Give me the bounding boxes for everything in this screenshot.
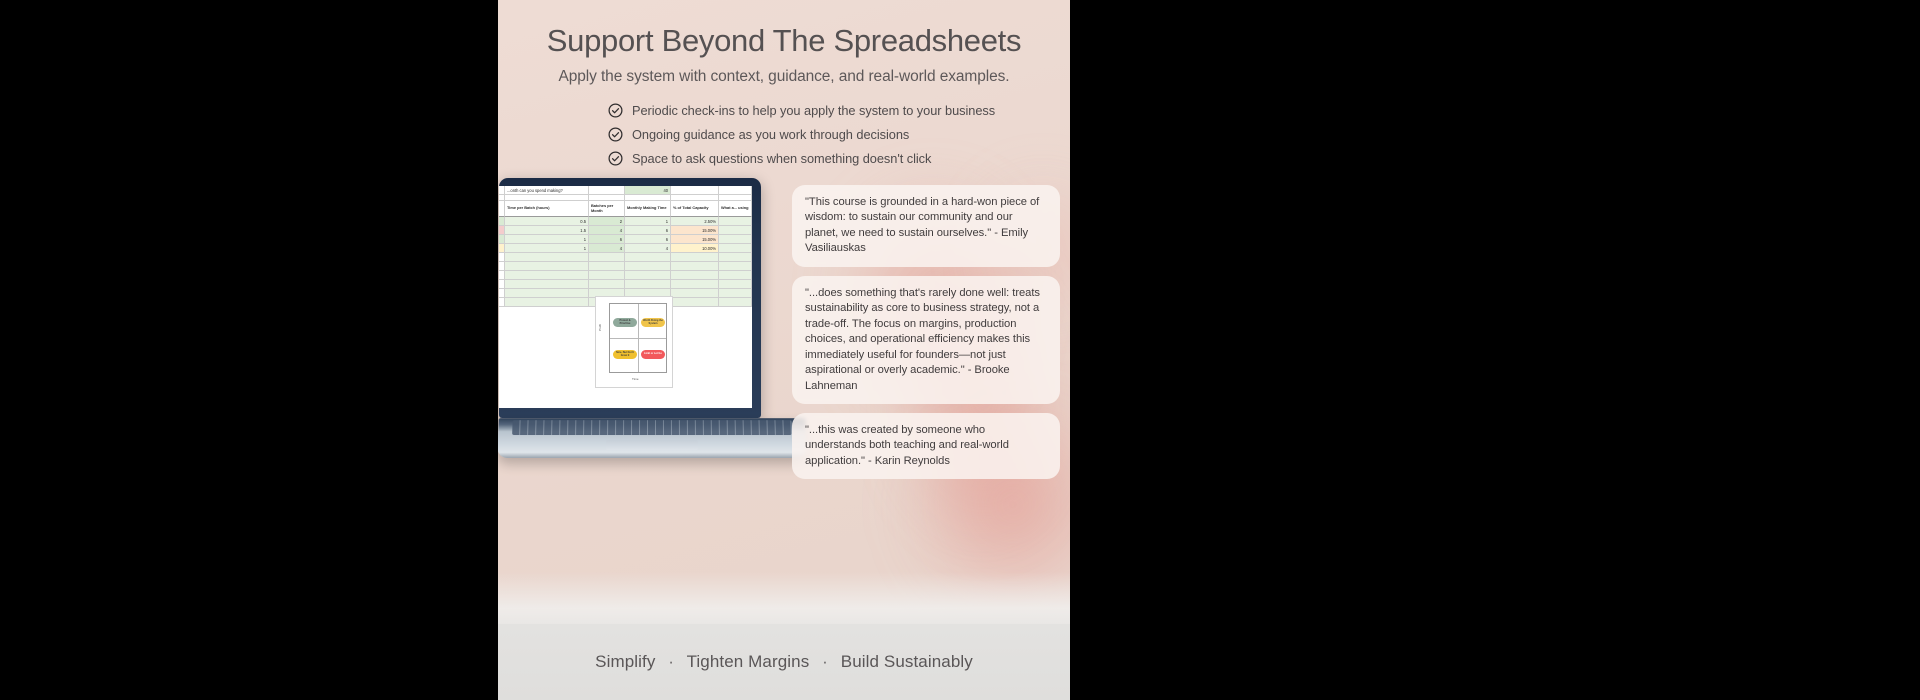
spacer-cell	[719, 253, 752, 262]
table-row	[499, 262, 752, 271]
spacer-cell	[589, 271, 625, 280]
circle-check-icon	[608, 127, 623, 142]
spacer-cell	[671, 186, 719, 195]
cell-batches: 4	[589, 244, 625, 253]
spacer-cell	[671, 262, 719, 271]
page-subtitle: Apply the system with context, guidance,…	[498, 68, 1070, 86]
laptop-lid: ...onth can you spend making? 40	[499, 178, 761, 418]
footer-item-build-sustainably: Build Sustainably	[841, 652, 973, 671]
list-item: Periodic check-ins to help you apply the…	[608, 98, 1028, 122]
spacer-cell	[719, 186, 752, 195]
spacer-cell	[625, 262, 671, 271]
spacer-cell	[719, 262, 752, 271]
spacer-cell	[671, 298, 719, 307]
cell-making-time: 4	[625, 244, 671, 253]
column-header: What a... using	[719, 201, 752, 217]
footer-separator: ·	[822, 652, 828, 671]
spacer-cell	[625, 271, 671, 280]
laptop-screen: ...onth can you spend making? 40	[499, 186, 752, 408]
table-row: 0.5 2 1 2.50%	[499, 217, 752, 226]
list-item-label: Ongoing guidance as you work through dec…	[632, 127, 909, 142]
cell-notes	[719, 244, 752, 253]
screenshot-stage: Support Beyond The Spreadsheets Apply th…	[0, 0, 1920, 700]
cell-capacity-pct: 10.00%	[671, 244, 719, 253]
spacer-cell	[671, 253, 719, 262]
footer-item-tighten-margins: Tighten Margins	[687, 652, 810, 671]
spacer-cell	[589, 280, 625, 289]
list-item: Space to ask questions when something do…	[608, 146, 1028, 170]
table-row	[499, 280, 752, 289]
column-header: Batches per Month	[589, 201, 625, 217]
spacer-cell	[719, 280, 752, 289]
laptop-mockup: ...onth can you spend making? 40	[498, 178, 818, 498]
list-item-label: Periodic check-ins to help you apply the…	[632, 103, 995, 118]
spacer-cell	[589, 253, 625, 262]
spacer-cell	[589, 262, 625, 271]
spacer-cell	[505, 298, 589, 307]
table-row: 1 6 6 15.00%	[499, 235, 752, 244]
spacer-cell	[719, 298, 752, 307]
cell-time-per-batch: 1.5	[505, 226, 589, 235]
cell-notes	[719, 217, 752, 226]
cell-capacity-pct: 15.00%	[671, 235, 719, 244]
column-header: Monthly Making Time	[625, 201, 671, 217]
table-header-row: Time per Batch (hours) Batches per Month…	[499, 201, 752, 217]
footer-fade	[498, 572, 1070, 624]
cell-batches: 6	[589, 235, 625, 244]
spacer-cell	[505, 289, 589, 298]
testimonial-card: "...this was created by someone who unde…	[792, 413, 1060, 479]
cell-making-time: 6	[625, 226, 671, 235]
cell-capacity-pct: 15.00%	[671, 226, 719, 235]
list-item: Ongoing guidance as you work through dec…	[608, 122, 1028, 146]
spacer-cell	[671, 271, 719, 280]
cell-time-per-batch: 1	[505, 235, 589, 244]
cell-capacity-pct: 2.50%	[671, 217, 719, 226]
testimonial-card: "...does something that's rarely done we…	[792, 276, 1060, 404]
chart-y-axis-label: Profit	[598, 324, 602, 331]
cell-making-time: 1	[625, 217, 671, 226]
circle-check-icon	[608, 151, 623, 166]
spacer-cell	[671, 289, 719, 298]
quadrant-label-bottom-right: Limit or Let Go	[641, 350, 665, 359]
spacer-cell	[719, 289, 752, 298]
spacer-cell	[719, 271, 752, 280]
testimonial-card: "This course is grounded in a hard-won p…	[792, 185, 1060, 267]
testimonial-list: "This course is grounded in a hard-won p…	[792, 185, 1060, 488]
column-header: % of Total Capacity	[671, 201, 719, 217]
poster-panel: Support Beyond The Spreadsheets Apply th…	[498, 0, 1070, 700]
circle-check-icon	[608, 103, 623, 118]
table-row: 1.5 4 6 15.00%	[499, 226, 752, 235]
column-header: Time per Batch (hours)	[505, 201, 589, 217]
footer-band: Simplify · Tighten Margins · Build Susta…	[498, 624, 1070, 700]
spacer-cell	[671, 280, 719, 289]
quadrant-label-top-left: Protect & Prioritise	[613, 318, 637, 327]
footer-item-simplify: Simplify	[595, 652, 655, 671]
laptop-base	[498, 418, 807, 458]
footer-separator: ·	[668, 652, 674, 671]
spacer-cell	[505, 271, 589, 280]
table-row: 1 4 4 10.00%	[499, 244, 752, 253]
feature-list: Periodic check-ins to help you apply the…	[608, 98, 1028, 170]
laptop-trackpad	[606, 440, 698, 450]
chart-plot-area: Protect & Prioritise Worth Fixing the Sy…	[609, 303, 667, 373]
spacer-cell	[505, 253, 589, 262]
spacer-cell	[589, 186, 625, 195]
cell-time-per-batch: 1	[505, 244, 589, 253]
cell-batches: 2	[589, 217, 625, 226]
table-row	[499, 253, 752, 262]
cell-notes	[719, 235, 752, 244]
quadrant-label-top-right: Worth Fixing the System	[641, 318, 665, 327]
footer-tagline: Simplify · Tighten Margins · Build Susta…	[595, 652, 973, 672]
prompt-label-cell: ...onth can you spend making?	[505, 186, 589, 195]
quadrant-chart: Profit Protect & Prioritise Worth Fixing…	[595, 296, 673, 388]
cell-notes	[719, 226, 752, 235]
page-title: Support Beyond The Spreadsheets	[498, 24, 1070, 58]
cell-time-per-batch: 0.5	[505, 217, 589, 226]
spacer-cell	[505, 280, 589, 289]
spacer-cell	[625, 253, 671, 262]
cell-making-time: 6	[625, 235, 671, 244]
chart-x-axis-label: Time	[632, 377, 639, 381]
quadrant-label-bottom-left: Nice, But Don't Grow It	[613, 350, 637, 359]
list-item-label: Space to ask questions when something do…	[632, 151, 931, 166]
laptop-keyboard	[512, 420, 792, 435]
cell-batches: 4	[589, 226, 625, 235]
table-row	[499, 271, 752, 280]
prompt-value-cell: 40	[625, 186, 671, 195]
spacer-cell	[505, 262, 589, 271]
table-row: ...onth can you spend making? 40	[499, 186, 752, 195]
spreadsheet: ...onth can you spend making? 40	[499, 186, 752, 408]
spacer-cell	[625, 280, 671, 289]
